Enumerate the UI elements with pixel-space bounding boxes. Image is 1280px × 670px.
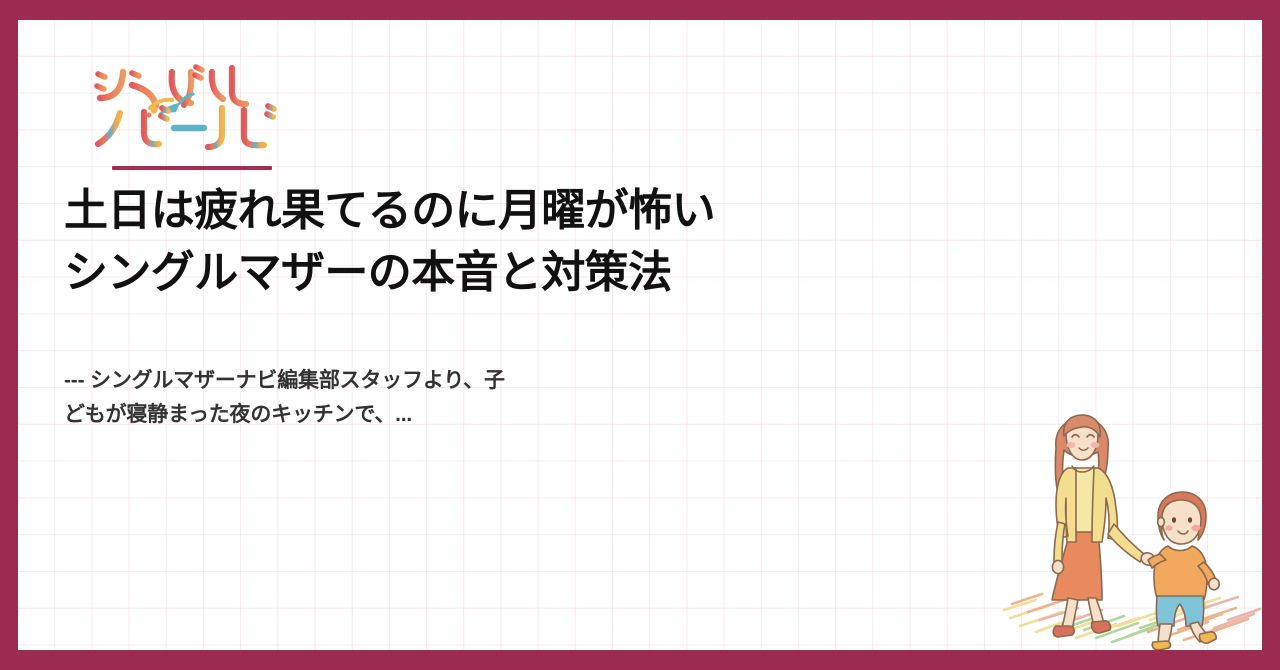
grid-paper-canvas: 土日は疲れ果てるのに月曜が怖い シングルマザーの本音と対策法 --- シングルマ…	[18, 20, 1262, 650]
article-excerpt-line-2: どもが寝静まった夜のキッチンで、...	[64, 398, 664, 432]
mother-and-child-drawing	[998, 404, 1262, 650]
mother-figure	[1052, 415, 1157, 637]
ground-hatching	[1004, 594, 1260, 642]
child-figure	[1148, 492, 1219, 650]
article-excerpt: --- シングルマザーナビ編集部スタッフより、子 どもが寝静まった夜のキッチンで…	[64, 364, 664, 431]
article-excerpt-line-1: --- シングルマザーナビ編集部スタッフより、子	[64, 364, 664, 398]
ogp-card: 土日は疲れ果てるのに月曜が怖い シングルマザーの本音と対策法 --- シングルマ…	[0, 0, 1280, 670]
article-title: 土日は疲れ果てるのに月曜が怖い シングルマザーの本音と対策法	[64, 180, 944, 303]
site-logo[interactable]	[92, 58, 302, 158]
article-title-line-1: 土日は疲れ果てるのに月曜が怖い	[64, 180, 944, 242]
mother-and-child-illustration	[998, 404, 1262, 650]
site-logo-mark	[92, 58, 292, 158]
article-title-line-2: シングルマザーの本音と対策法	[64, 242, 944, 304]
logo-divider-rule	[112, 166, 272, 170]
